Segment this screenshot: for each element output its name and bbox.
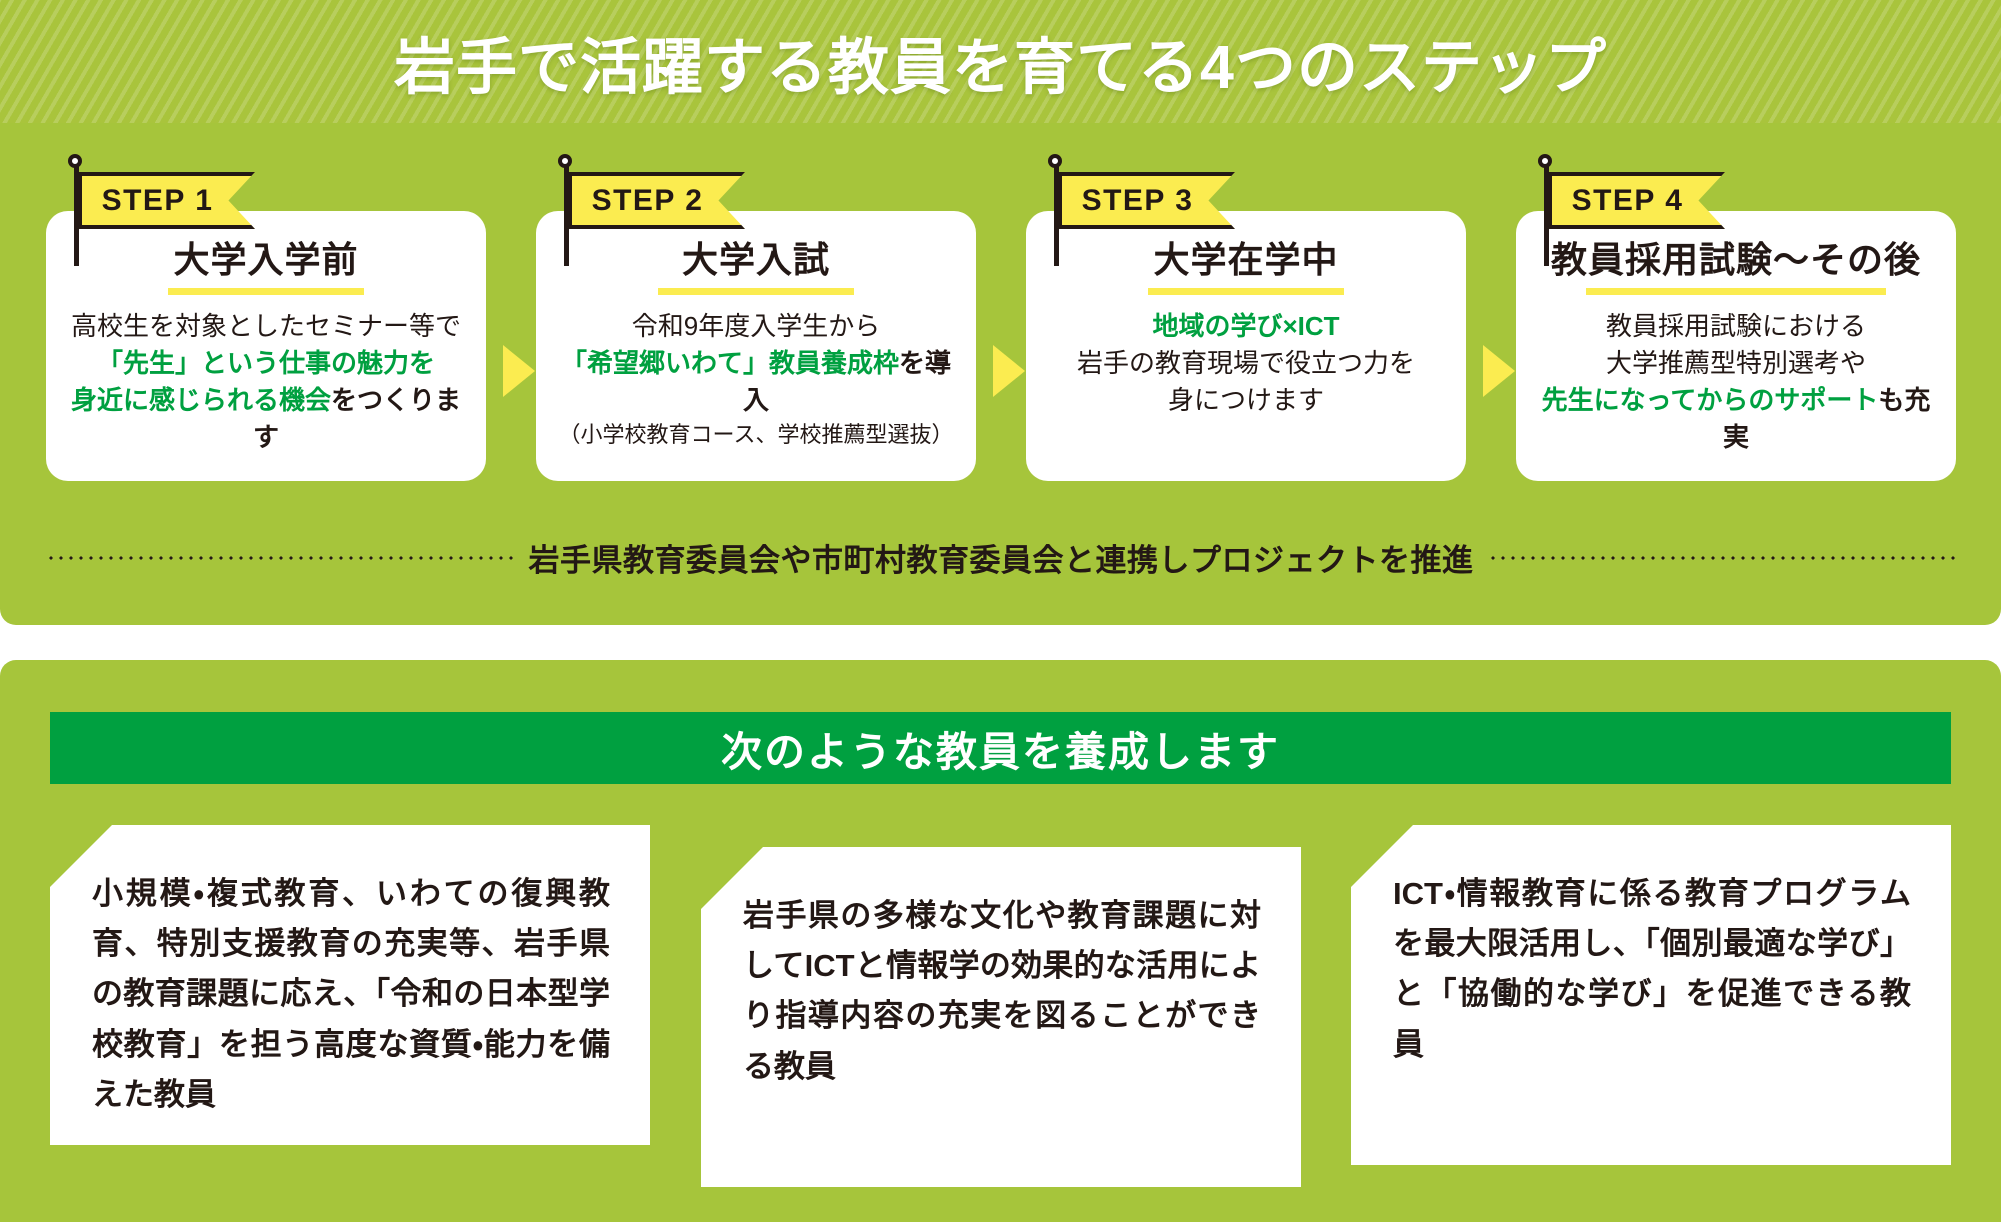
step-line-4-3: 先生になってからのサポートも充実: [1534, 382, 1938, 456]
flag-knob-icon: [558, 154, 572, 168]
step-line-4-2: 大学推薦型特別選考や: [1534, 345, 1938, 382]
step-title-2: 大学入試: [554, 241, 958, 279]
flag-banner-1: STEP 1: [78, 172, 255, 229]
step-card-3: STEP 3 大学在学中 地域の学び×ICT 岩手の教育現場で役立つ力を 身につ…: [1026, 160, 1466, 500]
steps-section: 岩手で活躍する教員を育てる4つのステップ STEP 1 大学入学前 高校生を対象…: [0, 0, 2001, 625]
step-line-1-1: 高校生を対象としたセミナー等で: [64, 308, 468, 345]
flag-banner-3: STEP 3: [1058, 172, 1235, 229]
step-card-2: STEP 2 大学入試 令和9年度入学生から 「希望郷いわて」教員養成枠を導入 …: [536, 160, 976, 500]
step-title-3: 大学在学中: [1044, 241, 1448, 279]
outcome-card-2: 岩手県の多様な文化や教育課題に対してICTと情報学の効果的な活用により指導内容の…: [701, 847, 1301, 1187]
step-title-4: 教員採用試験〜その後: [1534, 241, 1938, 279]
dotted-line-right: [1488, 556, 1957, 560]
step-flag-label-3: STEP 3: [1082, 184, 1194, 218]
outcomes-section: 次のような教員を養成します 小規模・複式教育、いわての復興教育、特別支援教育の充…: [0, 660, 2001, 1222]
step-line-2-2-green: 「希望郷いわて」教員養成枠: [561, 348, 899, 378]
step-flag-label-4: STEP 4: [1572, 184, 1684, 218]
caption-text: 岩手県教育委員会や市町村教育委員会と連携しプロジェクトを推進: [529, 535, 1474, 580]
step-flag-label-1: STEP 1: [102, 184, 214, 218]
step-line-3-3: 身につけます: [1044, 382, 1448, 419]
flag-knob-icon: [68, 154, 82, 168]
step-body-2: 大学入試 令和9年度入学生から 「希望郷いわて」教員養成枠を導入 （小学校教育コ…: [536, 211, 976, 481]
outcome-card-3: ICT・情報教育に係る教育プログラムを最大限活用し、「個別最適な学び」と「協働的…: [1351, 825, 1951, 1165]
step-title-1: 大学入学前: [64, 241, 468, 279]
step-line-3-1: 地域の学び×ICT: [1044, 308, 1448, 345]
step-text-1: 高校生を対象としたセミナー等で 「先生」という仕事の魅力を 身近に感じられる機会…: [64, 308, 468, 456]
page-title: 岩手で活躍する教員を育てる4つのステップ: [0, 0, 2001, 123]
step-title-underline-3: [1148, 288, 1344, 295]
flag-knob-icon: [1048, 154, 1062, 168]
dotted-line-left: [46, 556, 515, 560]
outcome-text-3: ICT・情報教育に係る教育プログラムを最大限活用し、「個別最適な学び」と「協働的…: [1393, 869, 1911, 1070]
outcomes-banner: 次のような教員を養成します: [50, 712, 1951, 784]
step-arrow-3-to-4-icon: [1483, 345, 1515, 397]
flag-banner-2: STEP 2: [568, 172, 745, 229]
outcomes-banner-title: 次のような教員を養成します: [721, 718, 1280, 778]
outcomes-row: 小規模・複式教育、いわての復興教育、特別支援教育の充実等、岩手県の教育課題に応え…: [50, 825, 1951, 1185]
flag-banner-4: STEP 4: [1548, 172, 1725, 229]
step-arrow-1-to-2-icon: [503, 345, 535, 397]
flag-knob-icon: [1538, 154, 1552, 168]
step-body-1: 大学入学前 高校生を対象としたセミナー等で 「先生」という仕事の魅力を 身近に感…: [46, 211, 486, 481]
step-title-underline-1: [168, 288, 364, 295]
outcome-text-2: 岩手県の多様な文化や教育課題に対してICTと情報学の効果的な活用により指導内容の…: [743, 891, 1261, 1092]
partnership-caption: 岩手県教育委員会や市町村教育委員会と連携しプロジェクトを推進: [46, 535, 1956, 580]
step-line-4-1: 教員採用試験における: [1534, 308, 1938, 345]
step-text-4: 教員採用試験における 大学推薦型特別選考や 先生になってからのサポートも充実: [1534, 308, 1938, 456]
step-line-1-3-green: 身近に感じられる機会: [71, 385, 331, 415]
step-card-4: STEP 4 教員採用試験〜その後 教員採用試験における 大学推薦型特別選考や …: [1516, 160, 1956, 500]
steps-row: STEP 1 大学入学前 高校生を対象としたセミナー等で 「先生」という仕事の魅…: [46, 160, 1956, 500]
step-card-1: STEP 1 大学入学前 高校生を対象としたセミナー等で 「先生」という仕事の魅…: [46, 160, 486, 500]
outcome-card-1: 小規模・複式教育、いわての復興教育、特別支援教育の充実等、岩手県の教育課題に応え…: [50, 825, 650, 1145]
step-title-underline-2: [658, 288, 854, 295]
step-body-4: 教員採用試験〜その後 教員採用試験における 大学推薦型特別選考や 先生になってか…: [1516, 211, 1956, 481]
step-line-2-2: 「希望郷いわて」教員養成枠を導入: [554, 345, 958, 419]
step-line-4-3-green: 先生になってからのサポート: [1542, 385, 1879, 415]
step-title-underline-4: [1586, 288, 1886, 295]
step-line-1-3: 身近に感じられる機会をつくります: [64, 382, 468, 456]
step-text-2: 令和9年度入学生から 「希望郷いわて」教員養成枠を導入 （小学校教育コース、学校…: [554, 308, 958, 449]
step-line-1-2: 「先生」という仕事の魅力を: [64, 345, 468, 382]
step-arrow-2-to-3-icon: [993, 345, 1025, 397]
step-text-3: 地域の学び×ICT 岩手の教育現場で役立つ力を 身につけます: [1044, 308, 1448, 419]
outcome-text-1: 小規模・複式教育、いわての復興教育、特別支援教育の充実等、岩手県の教育課題に応え…: [92, 869, 610, 1120]
step-line-2-1: 令和9年度入学生から: [554, 308, 958, 345]
step-line-3-2: 岩手の教育現場で役立つ力を: [1044, 345, 1448, 382]
step-body-3: 大学在学中 地域の学び×ICT 岩手の教育現場で役立つ力を 身につけます: [1026, 211, 1466, 481]
step-line-2-3: （小学校教育コース、学校推薦型選抜）: [554, 421, 958, 450]
step-flag-label-2: STEP 2: [592, 184, 704, 218]
